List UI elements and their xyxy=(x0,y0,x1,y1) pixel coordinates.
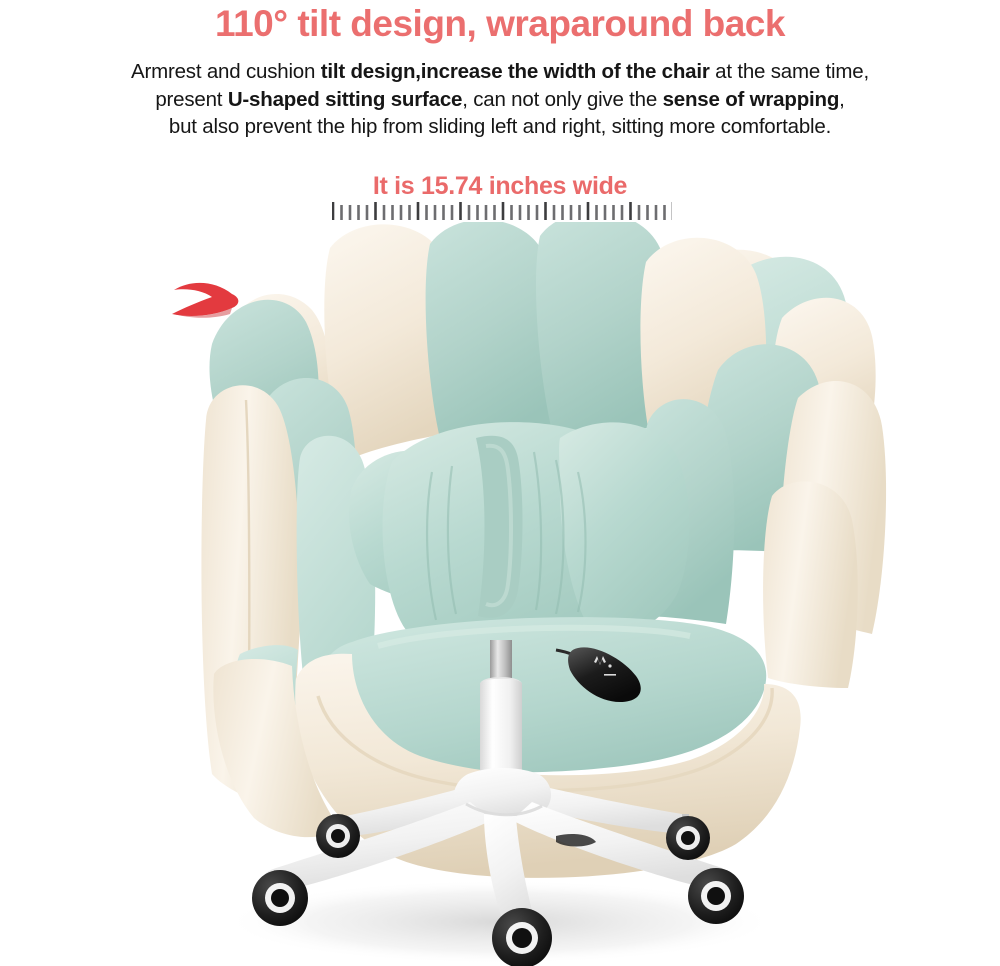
desc-l2-part-c: , can not only give the xyxy=(462,88,662,111)
width-callout-label: It is 15.74 inches wide xyxy=(0,172,1000,201)
product-infographic: 110° tilt design, wraparound back Armres… xyxy=(0,0,1000,966)
desc-l2-emphasis-2: sense of wrapping xyxy=(663,88,840,111)
caster-rear-left xyxy=(316,814,360,858)
ruler-measure xyxy=(332,201,672,221)
caster-right xyxy=(688,868,744,924)
description-line-3: but also prevent the hip from sliding le… xyxy=(30,113,970,141)
description-line-2: present U-shaped sitting surface, can no… xyxy=(30,86,970,114)
cylinder-chrome-rod xyxy=(490,640,512,682)
caster-left xyxy=(252,870,308,926)
desc-l2-part-e: , xyxy=(839,88,845,111)
arm-panel-right-cream xyxy=(763,481,858,688)
desc-l1-part-a: Armrest and cushion xyxy=(131,60,321,83)
desc-l2-part-a: present xyxy=(155,88,227,111)
description-line-1: Armrest and cushion tilt design,increase… xyxy=(30,58,970,86)
page-title: 110° tilt design, wraparound back xyxy=(0,2,1000,46)
bow-lumbar-cushion xyxy=(349,422,689,648)
desc-l1-part-c: at the same time, xyxy=(710,60,869,83)
caster-front xyxy=(492,908,552,966)
desc-l1-emphasis: tilt design,increase the width of the ch… xyxy=(321,60,710,83)
product-image-stage xyxy=(0,222,1000,966)
desc-l2-emphasis-1: U-shaped sitting surface xyxy=(228,88,462,111)
description-paragraph: Armrest and cushion tilt design,increase… xyxy=(30,58,970,141)
rotation-arrow-left xyxy=(172,283,238,318)
